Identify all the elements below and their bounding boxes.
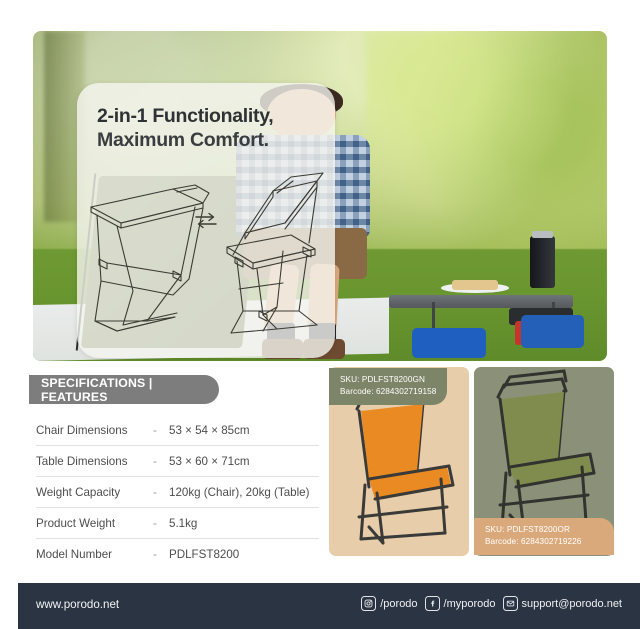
spec-value: 53 × 60 × 71cm: [169, 455, 319, 468]
foliage-bokeh: [366, 31, 607, 236]
bottle-cap: [532, 231, 553, 238]
email-address: support@porodo.net: [522, 598, 622, 610]
blue-bag: [521, 315, 584, 348]
email-link[interactable]: support@porodo.net: [503, 596, 622, 611]
spec-label: Chair Dimensions: [36, 424, 153, 437]
line-art-svg: [77, 171, 335, 346]
table-row: Table Dimensions - 53 × 60 × 71cm: [36, 446, 319, 477]
spec-separator: -: [153, 424, 169, 437]
footer-bar: www.porodo.net /porodo /: [18, 583, 640, 629]
headline-line-2: Maximum Comfort.: [97, 129, 323, 153]
website-url[interactable]: www.porodo.net: [36, 598, 119, 611]
specifications-table: Chair Dimensions - 53 × 54 × 85cm Table …: [36, 415, 319, 569]
instagram-link[interactable]: /porodo: [361, 596, 417, 611]
spec-separator: -: [153, 548, 169, 561]
sku-badge-green: SKU: PDLFST8200GN Barcode: 6284302719158: [329, 368, 447, 405]
barcode-text: Barcode: 6284302719226: [485, 536, 603, 548]
product-line-drawings: [77, 171, 335, 346]
facebook-link[interactable]: /myporodo: [425, 596, 496, 611]
facebook-icon: [425, 596, 440, 611]
spec-label: Model Number: [36, 548, 153, 561]
email-icon: [503, 596, 518, 611]
headline-block: 2-in-1 Functionality, Maximum Comfort.: [97, 105, 323, 153]
bread: [452, 280, 498, 290]
social-links: /porodo /myporodo support@porodo.ne: [361, 596, 622, 611]
spec-value: 53 × 54 × 85cm: [169, 424, 319, 437]
spec-label: Product Weight: [36, 517, 153, 530]
instagram-icon: [361, 596, 376, 611]
specifications-title: SPECIFICATIONS | FEATURES: [29, 376, 219, 404]
spec-separator: -: [153, 517, 169, 530]
camping-table: [389, 295, 573, 308]
spec-label: Weight Capacity: [36, 486, 153, 499]
headline-line-1: 2-in-1 Functionality,: [97, 105, 323, 129]
swap-horizontal-arrows-icon: [194, 211, 218, 234]
instagram-handle: /porodo: [380, 598, 417, 610]
spec-separator: -: [153, 486, 169, 499]
spec-value: PDLFST8200: [169, 548, 319, 561]
spec-label: Table Dimensions: [36, 455, 153, 468]
facebook-handle: /myporodo: [444, 598, 496, 610]
hero-lifestyle-photo: 2-in-1 Functionality, Maximum Comfort.: [33, 31, 607, 361]
spec-value: 5.1kg: [169, 517, 319, 530]
product-spec-sheet: 2-in-1 Functionality, Maximum Comfort.: [0, 0, 640, 629]
sku-text: SKU: PDLFST8200OR: [485, 524, 603, 536]
spec-separator: -: [153, 455, 169, 468]
specifications-header: SPECIFICATIONS | FEATURES: [29, 375, 219, 404]
water-bottle: [530, 236, 556, 289]
sku-text: SKU: PDLFST8200GN: [340, 374, 436, 386]
barcode-text: Barcode: 6284302719158: [340, 386, 436, 398]
headline-card: 2-in-1 Functionality, Maximum Comfort.: [77, 83, 335, 358]
sku-badge-orange: SKU: PDLFST8200OR Barcode: 6284302719226: [474, 518, 614, 555]
table-row: Model Number - PDLFST8200: [36, 539, 319, 569]
spec-value: 120kg (Chair), 20kg (Table): [169, 486, 319, 499]
table-row: Chair Dimensions - 53 × 54 × 85cm: [36, 415, 319, 446]
blue-bag: [412, 328, 487, 358]
table-row: Product Weight - 5.1kg: [36, 508, 319, 539]
table-row: Weight Capacity - 120kg (Chair), 20kg (T…: [36, 477, 319, 508]
